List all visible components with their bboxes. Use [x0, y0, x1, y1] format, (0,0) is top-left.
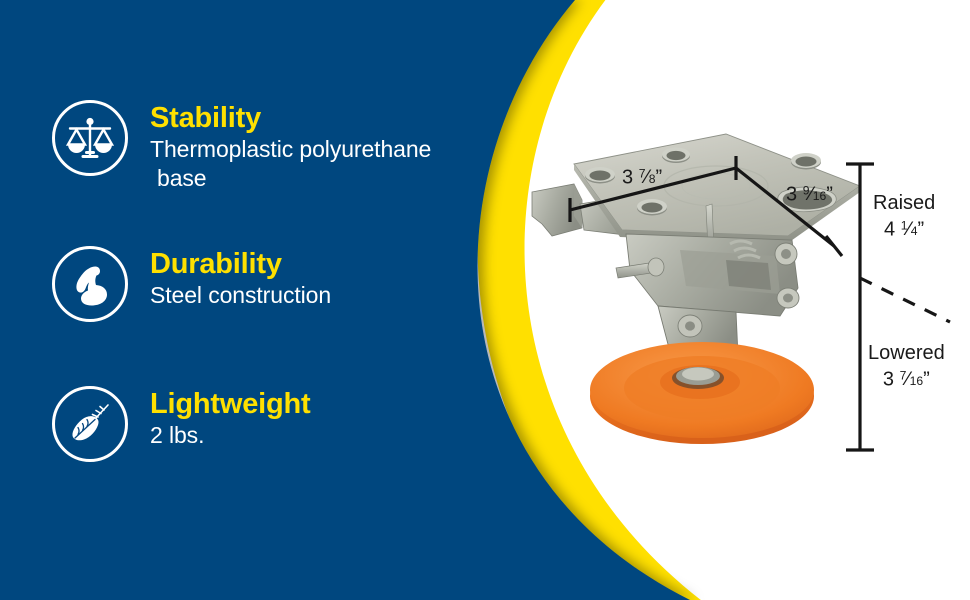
- feature-description: Steel construction: [150, 281, 331, 310]
- dim-unit: ”: [656, 166, 663, 188]
- dimension-label-width-right: 3 9⁄16”: [786, 180, 833, 208]
- dimension-label-width-left: 3 7⁄8”: [622, 163, 662, 191]
- dim-whole: 3: [786, 183, 797, 205]
- feature-text-stability: Stability Thermoplastic polyurethane bas…: [150, 100, 431, 193]
- feature-text-lightweight: Lightweight 2 lbs.: [150, 386, 311, 450]
- feature-title: Stability: [150, 102, 431, 135]
- dim-fraction: 7⁄8: [639, 166, 656, 188]
- feature-title: Durability: [150, 248, 331, 281]
- dim-raised-value: 4 1⁄4”: [873, 215, 935, 243]
- dim-whole: 3: [622, 166, 633, 188]
- dim-denominator: 8: [649, 172, 656, 186]
- dim-unit: ”: [826, 183, 833, 205]
- dim-numerator: 7: [639, 167, 646, 181]
- dim-denominator: 16: [813, 189, 827, 203]
- feature-description: Thermoplastic polyurethane base: [150, 135, 431, 193]
- dimension-label-lowered: Lowered 3 7⁄16”: [868, 342, 945, 393]
- feature-desc-line2: base: [150, 164, 431, 193]
- feature-desc-line1: 2 lbs.: [150, 422, 204, 448]
- flexed-bicep-icon: [52, 246, 128, 322]
- dimension-label-raised: Raised 4 1⁄4”: [873, 192, 935, 243]
- feature-description: 2 lbs.: [150, 421, 311, 450]
- feature-desc-line1: Steel construction: [150, 282, 331, 308]
- dimension-annotations: [540, 140, 970, 480]
- feature-title: Lightweight: [150, 388, 311, 421]
- feather-icon: [52, 386, 128, 462]
- feature-item-stability: Stability Thermoplastic polyurethane bas…: [52, 100, 431, 193]
- dim-lowered-title: Lowered: [868, 342, 945, 364]
- dim-lowered-value: 3 7⁄16”: [868, 365, 945, 393]
- feature-text-durability: Durability Steel construction: [150, 246, 331, 310]
- balance-scale-icon: [52, 100, 128, 176]
- dim-fraction: 9⁄16: [803, 183, 827, 205]
- feature-item-lightweight: Lightweight 2 lbs.: [52, 386, 311, 462]
- dim-raised-title: Raised: [873, 192, 935, 214]
- infographic-banner: Stability Thermoplastic polyurethane bas…: [0, 0, 970, 600]
- dim-numerator: 9: [803, 184, 810, 198]
- feature-list: Stability Thermoplastic polyurethane bas…: [0, 0, 540, 600]
- feature-item-durability: Durability Steel construction: [52, 246, 331, 322]
- feature-desc-line1: Thermoplastic polyurethane: [150, 136, 431, 162]
